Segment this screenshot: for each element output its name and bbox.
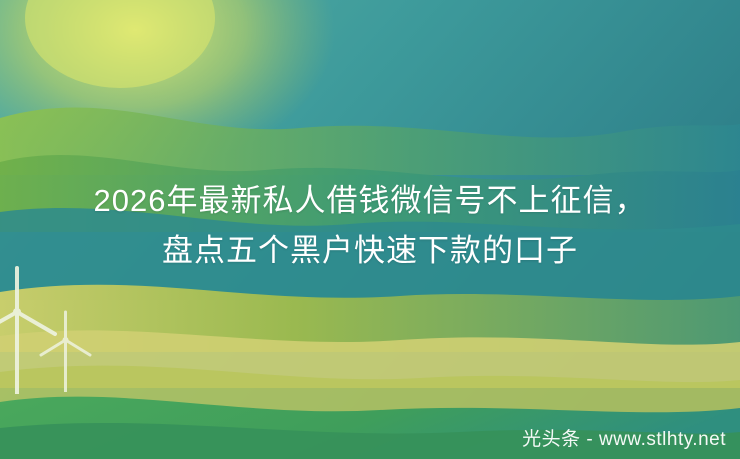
poster-image: 2026年最新私人借钱微信号不上征信， 盘点五个黑户快速下款的口子 光头条 - …: [0, 0, 740, 459]
watermark-text: 光头条 - www.stlhty.net: [522, 424, 726, 451]
poster-headline: 2026年最新私人借钱微信号不上征信， 盘点五个黑户快速下款的口子: [0, 176, 740, 276]
